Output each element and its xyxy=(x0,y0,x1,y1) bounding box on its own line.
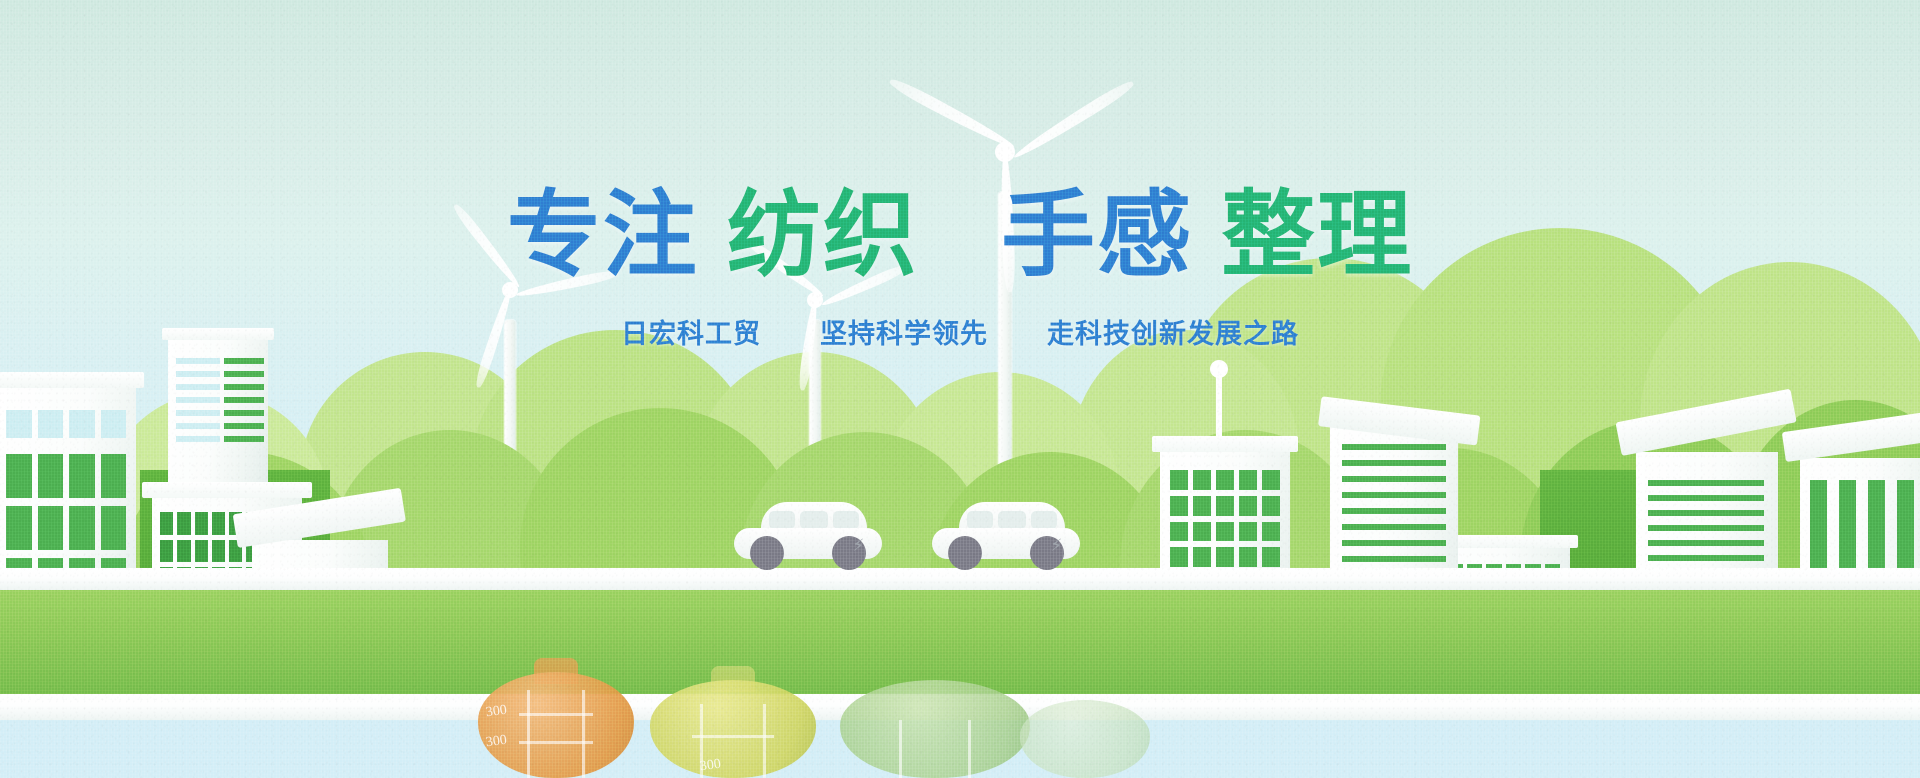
window xyxy=(1170,547,1188,567)
window-stripe xyxy=(1342,524,1446,530)
window-stripe xyxy=(176,397,220,403)
stripe-rows-cyan xyxy=(176,358,220,442)
window xyxy=(160,512,173,535)
flask-graduation-tick xyxy=(692,735,774,738)
car-window xyxy=(833,511,859,529)
flask-graduation-label: 300 xyxy=(699,757,722,776)
flask-orange: 300 300 xyxy=(478,658,634,778)
window xyxy=(1170,496,1188,516)
window xyxy=(6,506,32,550)
flask-inner-tube xyxy=(527,690,585,778)
car-window xyxy=(769,511,795,529)
road-band xyxy=(0,568,1920,590)
headline-part-zhuanzhu: 专注 xyxy=(507,188,699,282)
car-window xyxy=(1031,511,1057,529)
window xyxy=(101,454,127,498)
headline: 专注 纺织 手感 整理 xyxy=(0,188,1920,282)
flask-graduation-label: 300 xyxy=(485,733,508,752)
window xyxy=(1239,496,1257,516)
flask-bulb xyxy=(1020,700,1150,778)
lightning-bolt-icon: ⚡ xyxy=(852,537,864,554)
window xyxy=(212,540,225,563)
car-window xyxy=(800,511,828,529)
grass-strip xyxy=(0,576,1920,696)
window xyxy=(69,410,95,438)
window-stripe xyxy=(224,384,264,390)
subtitle-part-science: 坚持科学领先 xyxy=(820,319,988,349)
window xyxy=(1193,522,1211,542)
window-stripe xyxy=(176,410,220,416)
window-stripe xyxy=(176,371,220,377)
window-stripe xyxy=(1648,555,1764,561)
car-right: ⚡ xyxy=(932,502,1080,570)
window-stripe xyxy=(224,358,264,364)
flask-graduation-tick xyxy=(519,713,593,716)
window-stripe xyxy=(176,384,220,390)
flask-yellow: 300 xyxy=(650,666,816,778)
window xyxy=(1193,470,1211,490)
window xyxy=(195,512,208,535)
window-stripe xyxy=(224,423,264,429)
window xyxy=(1216,522,1234,542)
window xyxy=(6,410,32,438)
turbine-hub xyxy=(807,292,823,308)
window xyxy=(1262,522,1280,542)
window-stripe xyxy=(1342,444,1446,450)
car-wheel xyxy=(948,536,982,570)
car-wheel xyxy=(750,536,784,570)
window xyxy=(69,506,95,550)
flask-inner-tube xyxy=(899,720,971,778)
window xyxy=(177,540,190,563)
window xyxy=(1262,547,1280,567)
window-stripe xyxy=(1648,525,1764,531)
headline-part-shougan: 手感 xyxy=(1001,188,1193,282)
window-stripe xyxy=(176,423,220,429)
window xyxy=(177,512,190,535)
window-stripe xyxy=(224,436,264,442)
window xyxy=(1170,470,1188,490)
stripe-rows-green xyxy=(224,358,264,442)
window xyxy=(1193,496,1211,516)
window xyxy=(1239,547,1257,567)
window-stripe xyxy=(224,410,264,416)
window xyxy=(1262,496,1280,516)
car-left: ⚡ xyxy=(734,502,882,570)
window-stripe xyxy=(1342,508,1446,514)
window xyxy=(1262,470,1280,490)
flask-pale-right xyxy=(1020,700,1150,778)
flask-green xyxy=(840,680,1030,778)
subtitle-part-company: 日宏科工贸 xyxy=(621,319,761,349)
window xyxy=(1170,522,1188,542)
flask-graduation-label: 300 xyxy=(485,703,508,722)
window xyxy=(69,454,95,498)
building-roof-cap xyxy=(142,482,312,498)
antenna-tip xyxy=(1210,360,1228,378)
car-window xyxy=(998,511,1026,529)
window xyxy=(1216,547,1234,567)
window-stripe xyxy=(224,397,264,403)
window-stripe xyxy=(1342,460,1446,466)
window xyxy=(38,410,64,438)
window xyxy=(38,506,64,550)
window xyxy=(1216,496,1234,516)
window-stripe xyxy=(1648,540,1764,546)
window xyxy=(160,540,173,563)
window-stripe xyxy=(176,358,220,364)
window xyxy=(101,410,127,438)
building-left-striped-tower xyxy=(168,340,268,500)
window xyxy=(1216,470,1234,490)
window xyxy=(1239,522,1257,542)
window-stripe xyxy=(1648,510,1764,516)
car-window xyxy=(967,511,993,529)
window-stripe xyxy=(224,371,264,377)
lightning-bolt-icon: ⚡ xyxy=(1050,537,1062,554)
window-stripe xyxy=(1342,556,1446,562)
hero-banner: ⚡ ⚡ 300 300 300 专注 纺织 xyxy=(0,0,1920,778)
building-roof-cap xyxy=(0,372,144,388)
window xyxy=(6,454,32,498)
subtitle: 日宏科工贸 坚持科学领先 走科技创新发展之路 xyxy=(0,312,1920,351)
window xyxy=(212,512,225,535)
window xyxy=(101,506,127,550)
window-stripe xyxy=(1648,495,1764,501)
window-stripe xyxy=(176,436,220,442)
window-stripe xyxy=(1342,476,1446,482)
window-stripe xyxy=(1342,540,1446,546)
flask-graduation-tick xyxy=(519,741,593,744)
window xyxy=(1239,470,1257,490)
headline-part-fangzhi: 纺织 xyxy=(727,188,919,282)
headline-part-zhengli: 整理 xyxy=(1221,188,1413,282)
window xyxy=(195,540,208,563)
window-stripe xyxy=(1648,480,1764,486)
window xyxy=(38,454,64,498)
building-roof-cap xyxy=(1152,436,1298,452)
window xyxy=(1193,547,1211,567)
subtitle-part-innovation: 走科技创新发展之路 xyxy=(1047,319,1299,349)
window-grid-cyan xyxy=(6,410,126,438)
window-stripe xyxy=(1342,492,1446,498)
turbine-hub xyxy=(995,142,1015,162)
